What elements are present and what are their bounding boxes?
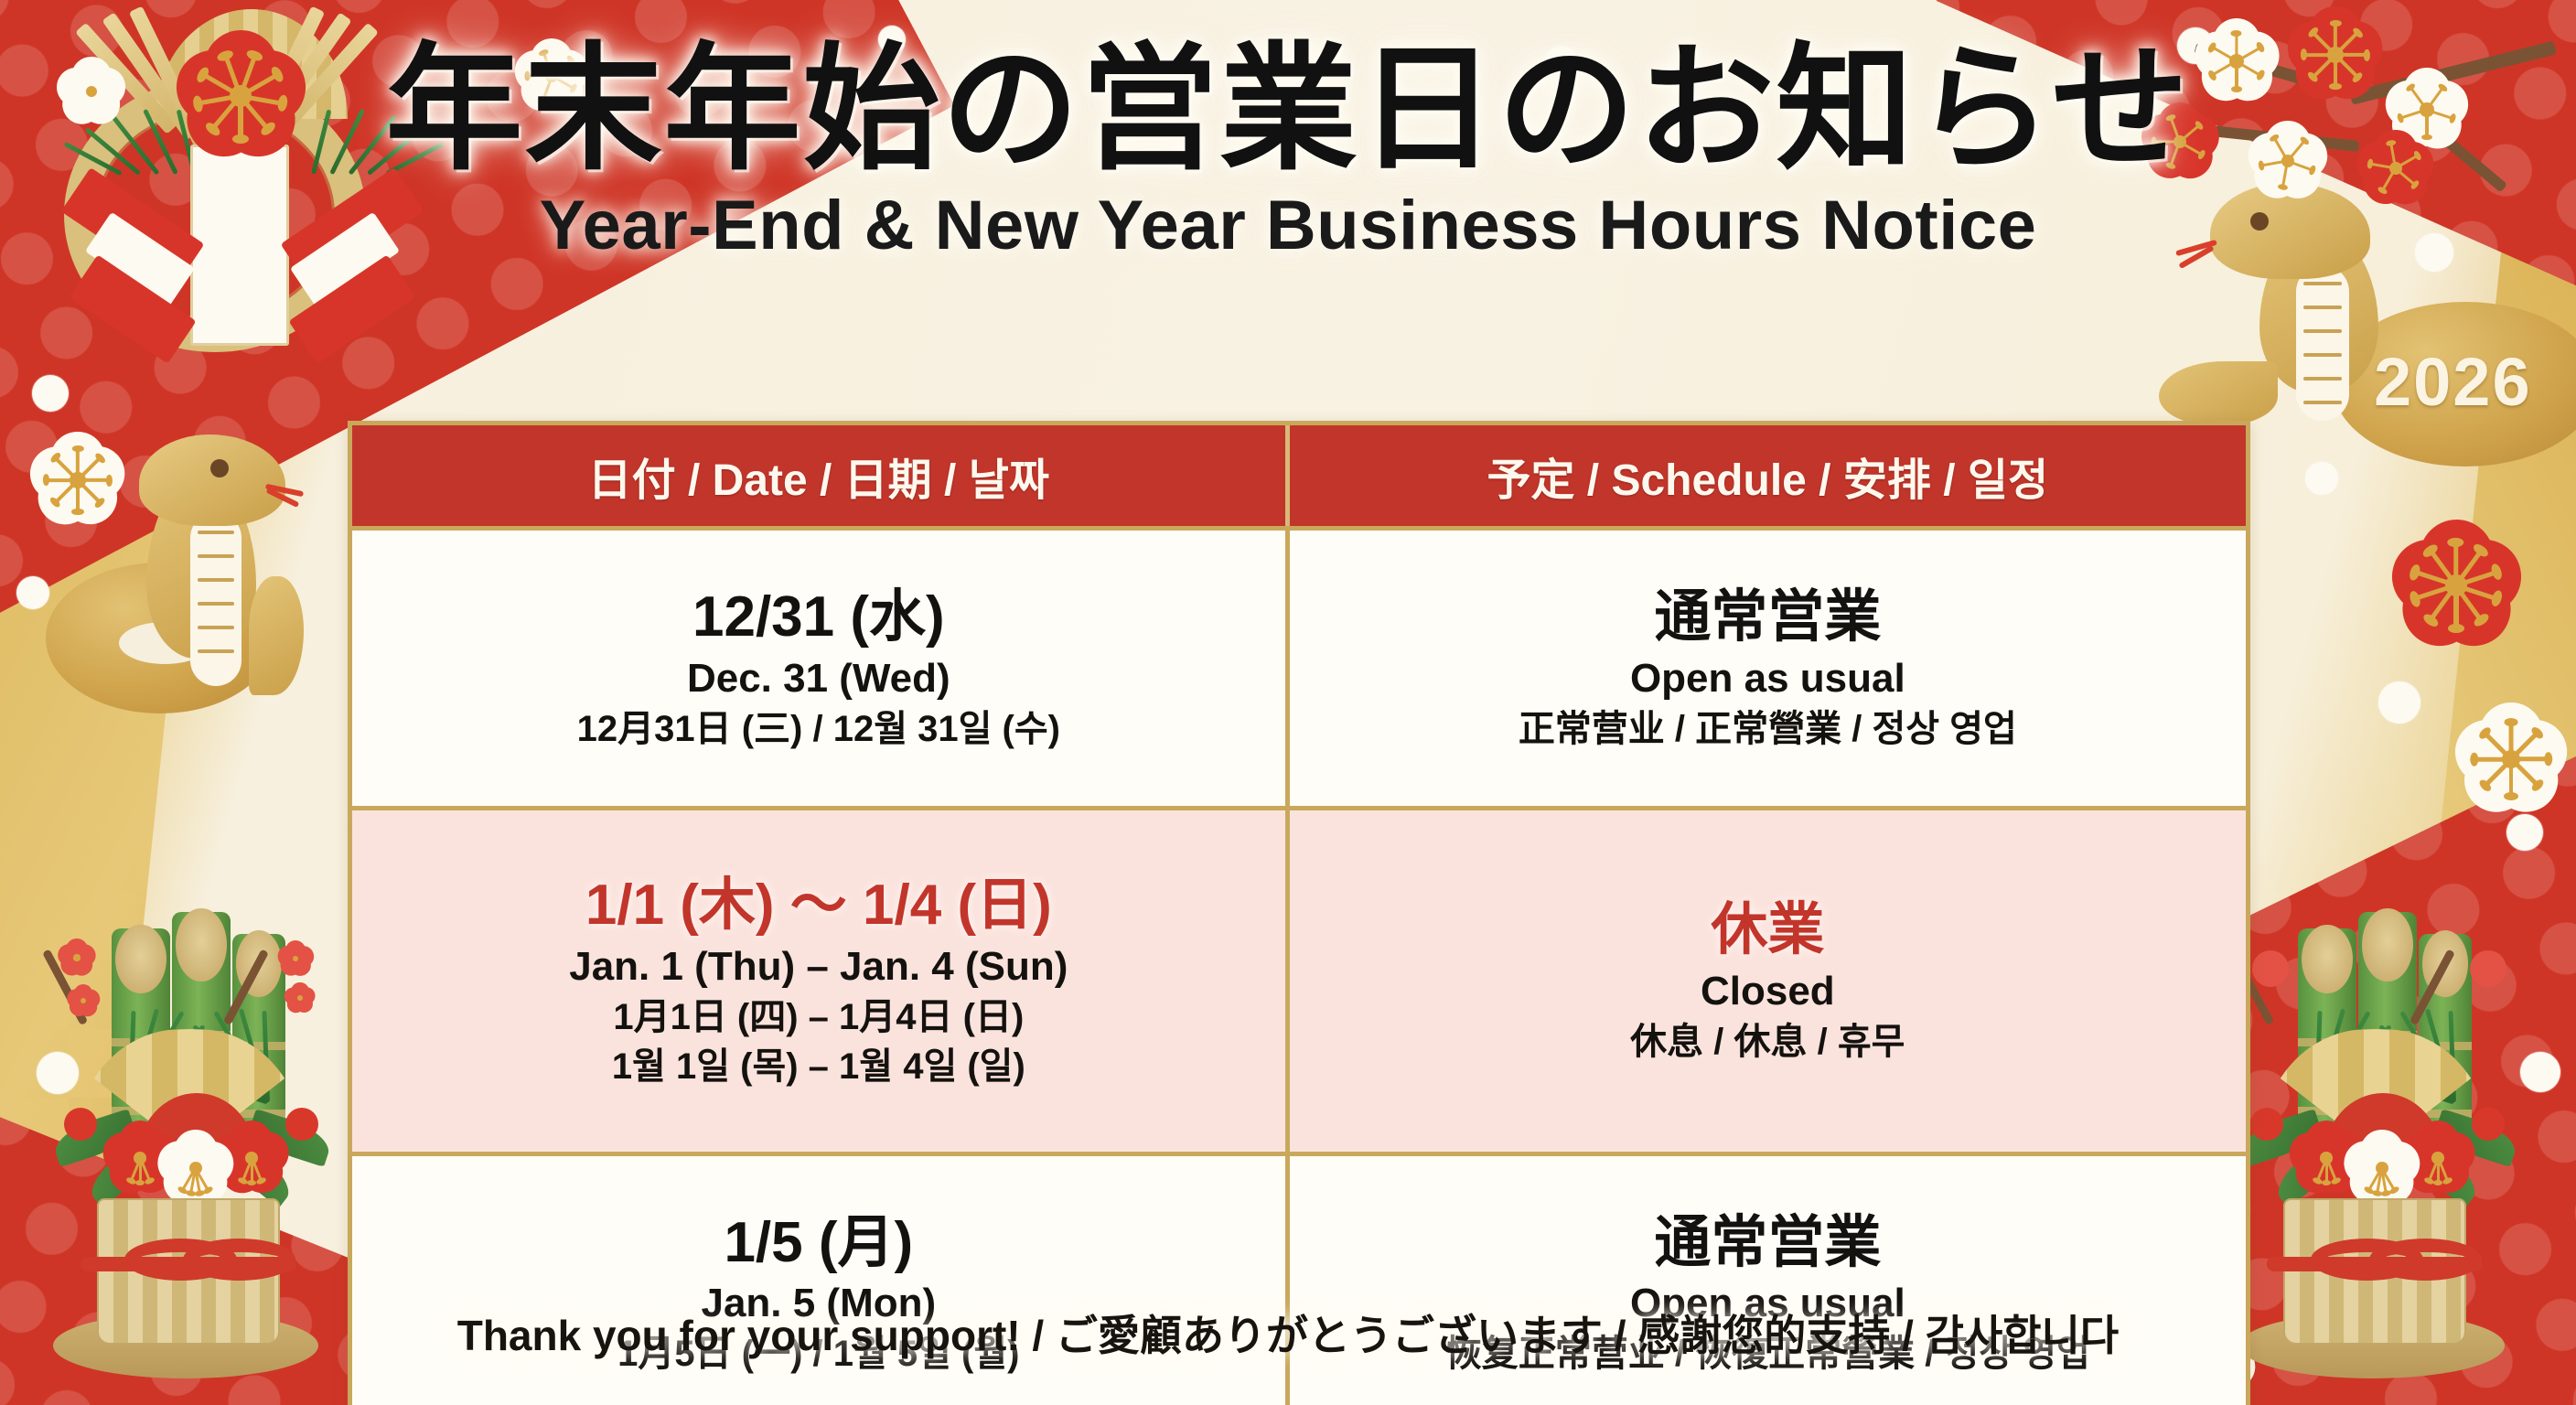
schedule-line-primary: 休業 (1306, 896, 2229, 963)
schedule-line-english: Open as usual (1306, 653, 2229, 703)
table-cell-schedule: 通常営業 Open as usual 恢复正常营业 / 恢復正常營業 / 정상 … (1290, 1156, 2246, 1405)
snake-tail (249, 576, 304, 695)
snake-head (139, 434, 285, 526)
table-cell-schedule: 通常営業 Open as usual 正常营业 / 正常營業 / 정상 영업 (1290, 531, 2246, 806)
table-cell-date: 12/31 (水) Dec. 31 (Wed) 12月31日 (三) / 12월… (352, 531, 1290, 806)
schedule-line-primary: 通常営業 (1306, 1209, 2229, 1276)
pine-sprig (2442, 1002, 2561, 1102)
date-line-primary: 1/1 (木) 〜 1/4 (日) (369, 872, 1269, 938)
schedule-line-primary: 通常営業 (1306, 584, 2229, 650)
table-row: 1/5 (月) Jan. 5 (Mon) 1月5日 (一) / 1월 5일 (월… (352, 1156, 2246, 1405)
camellia-white-icon (156, 1128, 236, 1208)
schedule-line-cjk: 正常营业 / 正常營業 / 정상 영업 (1306, 705, 2229, 753)
table-cell-date: 1/5 (月) Jan. 5 (Mon) 1月5日 (一) / 1월 5일 (월… (352, 1156, 1290, 1405)
red-ribbon-bow (2267, 1235, 2483, 1292)
snake-eye (210, 459, 229, 477)
plum-blossom-icon (57, 938, 97, 978)
year-badge: 2026 (2374, 343, 2532, 421)
date-line-english: Dec. 31 (Wed) (369, 653, 1269, 703)
snow-dot (2305, 462, 2338, 495)
page-title-japanese: 年末年始の営業日のお知らせ (0, 37, 2576, 182)
table-cell-date: 1/1 (木) 〜 1/4 (日) Jan. 1 (Thu) – Jan. 4 … (352, 810, 1290, 1152)
plum-blossom-icon (284, 981, 317, 1014)
snake-belly (190, 512, 241, 686)
table-row: 12/31 (水) Dec. 31 (Wed) 12月31日 (三) / 12월… (352, 531, 2246, 810)
plum-blossom-icon (2388, 517, 2525, 654)
table-cell-schedule: 休業 Closed 休息 / 休息 / 휴무 (1290, 810, 2246, 1152)
newyear-notice-poster: 2026 (0, 0, 2576, 1405)
snow-dot (2378, 681, 2420, 724)
date-line-korean: 1월 1일 (목) – 1월 4일 (일) (369, 1043, 1269, 1090)
page-title-english: Year-End & New Year Business Hours Notic… (0, 186, 2576, 265)
plum-blossom-icon (2452, 700, 2571, 819)
berry (2250, 1108, 2283, 1141)
snow-dot (2506, 814, 2543, 851)
red-ribbon-bow (80, 1235, 296, 1292)
table-header-date: 日付 / Date / 日期 / 날짜 (352, 425, 1290, 526)
date-line-primary: 12/31 (水) (369, 584, 1269, 650)
berry (64, 1108, 97, 1141)
business-hours-table: 日付 / Date / 日期 / 날짜 予定 / Schedule / 安排 /… (348, 421, 2250, 1405)
schedule-line-cjk: 休息 / 休息 / 휴무 (1306, 1018, 2229, 1066)
camellia-white-icon (2342, 1128, 2422, 1208)
snake-belly (2296, 265, 2349, 421)
schedule-line-english: Closed (1306, 966, 2229, 1016)
title-block: 年末年始の営業日のお知らせ Year-End & New Year Busine… (0, 37, 2576, 265)
table-row: 1/1 (木) 〜 1/4 (日) Jan. 1 (Thu) – Jan. 4 … (352, 810, 2246, 1156)
plum-blossom-icon (66, 983, 101, 1018)
berry (2470, 950, 2506, 987)
date-line-english: Jan. 1 (Thu) – Jan. 4 (Sun) (369, 941, 1269, 992)
plum-blossom-icon (276, 939, 315, 978)
berry (2252, 950, 2289, 987)
date-line-cjk: 12月31日 (三) / 12월 31일 (수) (369, 705, 1269, 753)
plum-blossom-icon (27, 430, 128, 531)
table-header-schedule: 予定 / Schedule / 安排 / 일정 (1290, 425, 2246, 526)
footer-thank-you: Thank you for your support! / ご愛顧ありがとうござ… (0, 1303, 2576, 1363)
snake-tail (2159, 361, 2278, 425)
date-line-primary: 1/5 (月) (369, 1209, 1269, 1276)
date-line-chinese: 1月1日 (四) – 1月4日 (日) (369, 993, 1269, 1041)
table-header-row: 日付 / Date / 日期 / 날짜 予定 / Schedule / 安排 /… (352, 425, 2246, 531)
